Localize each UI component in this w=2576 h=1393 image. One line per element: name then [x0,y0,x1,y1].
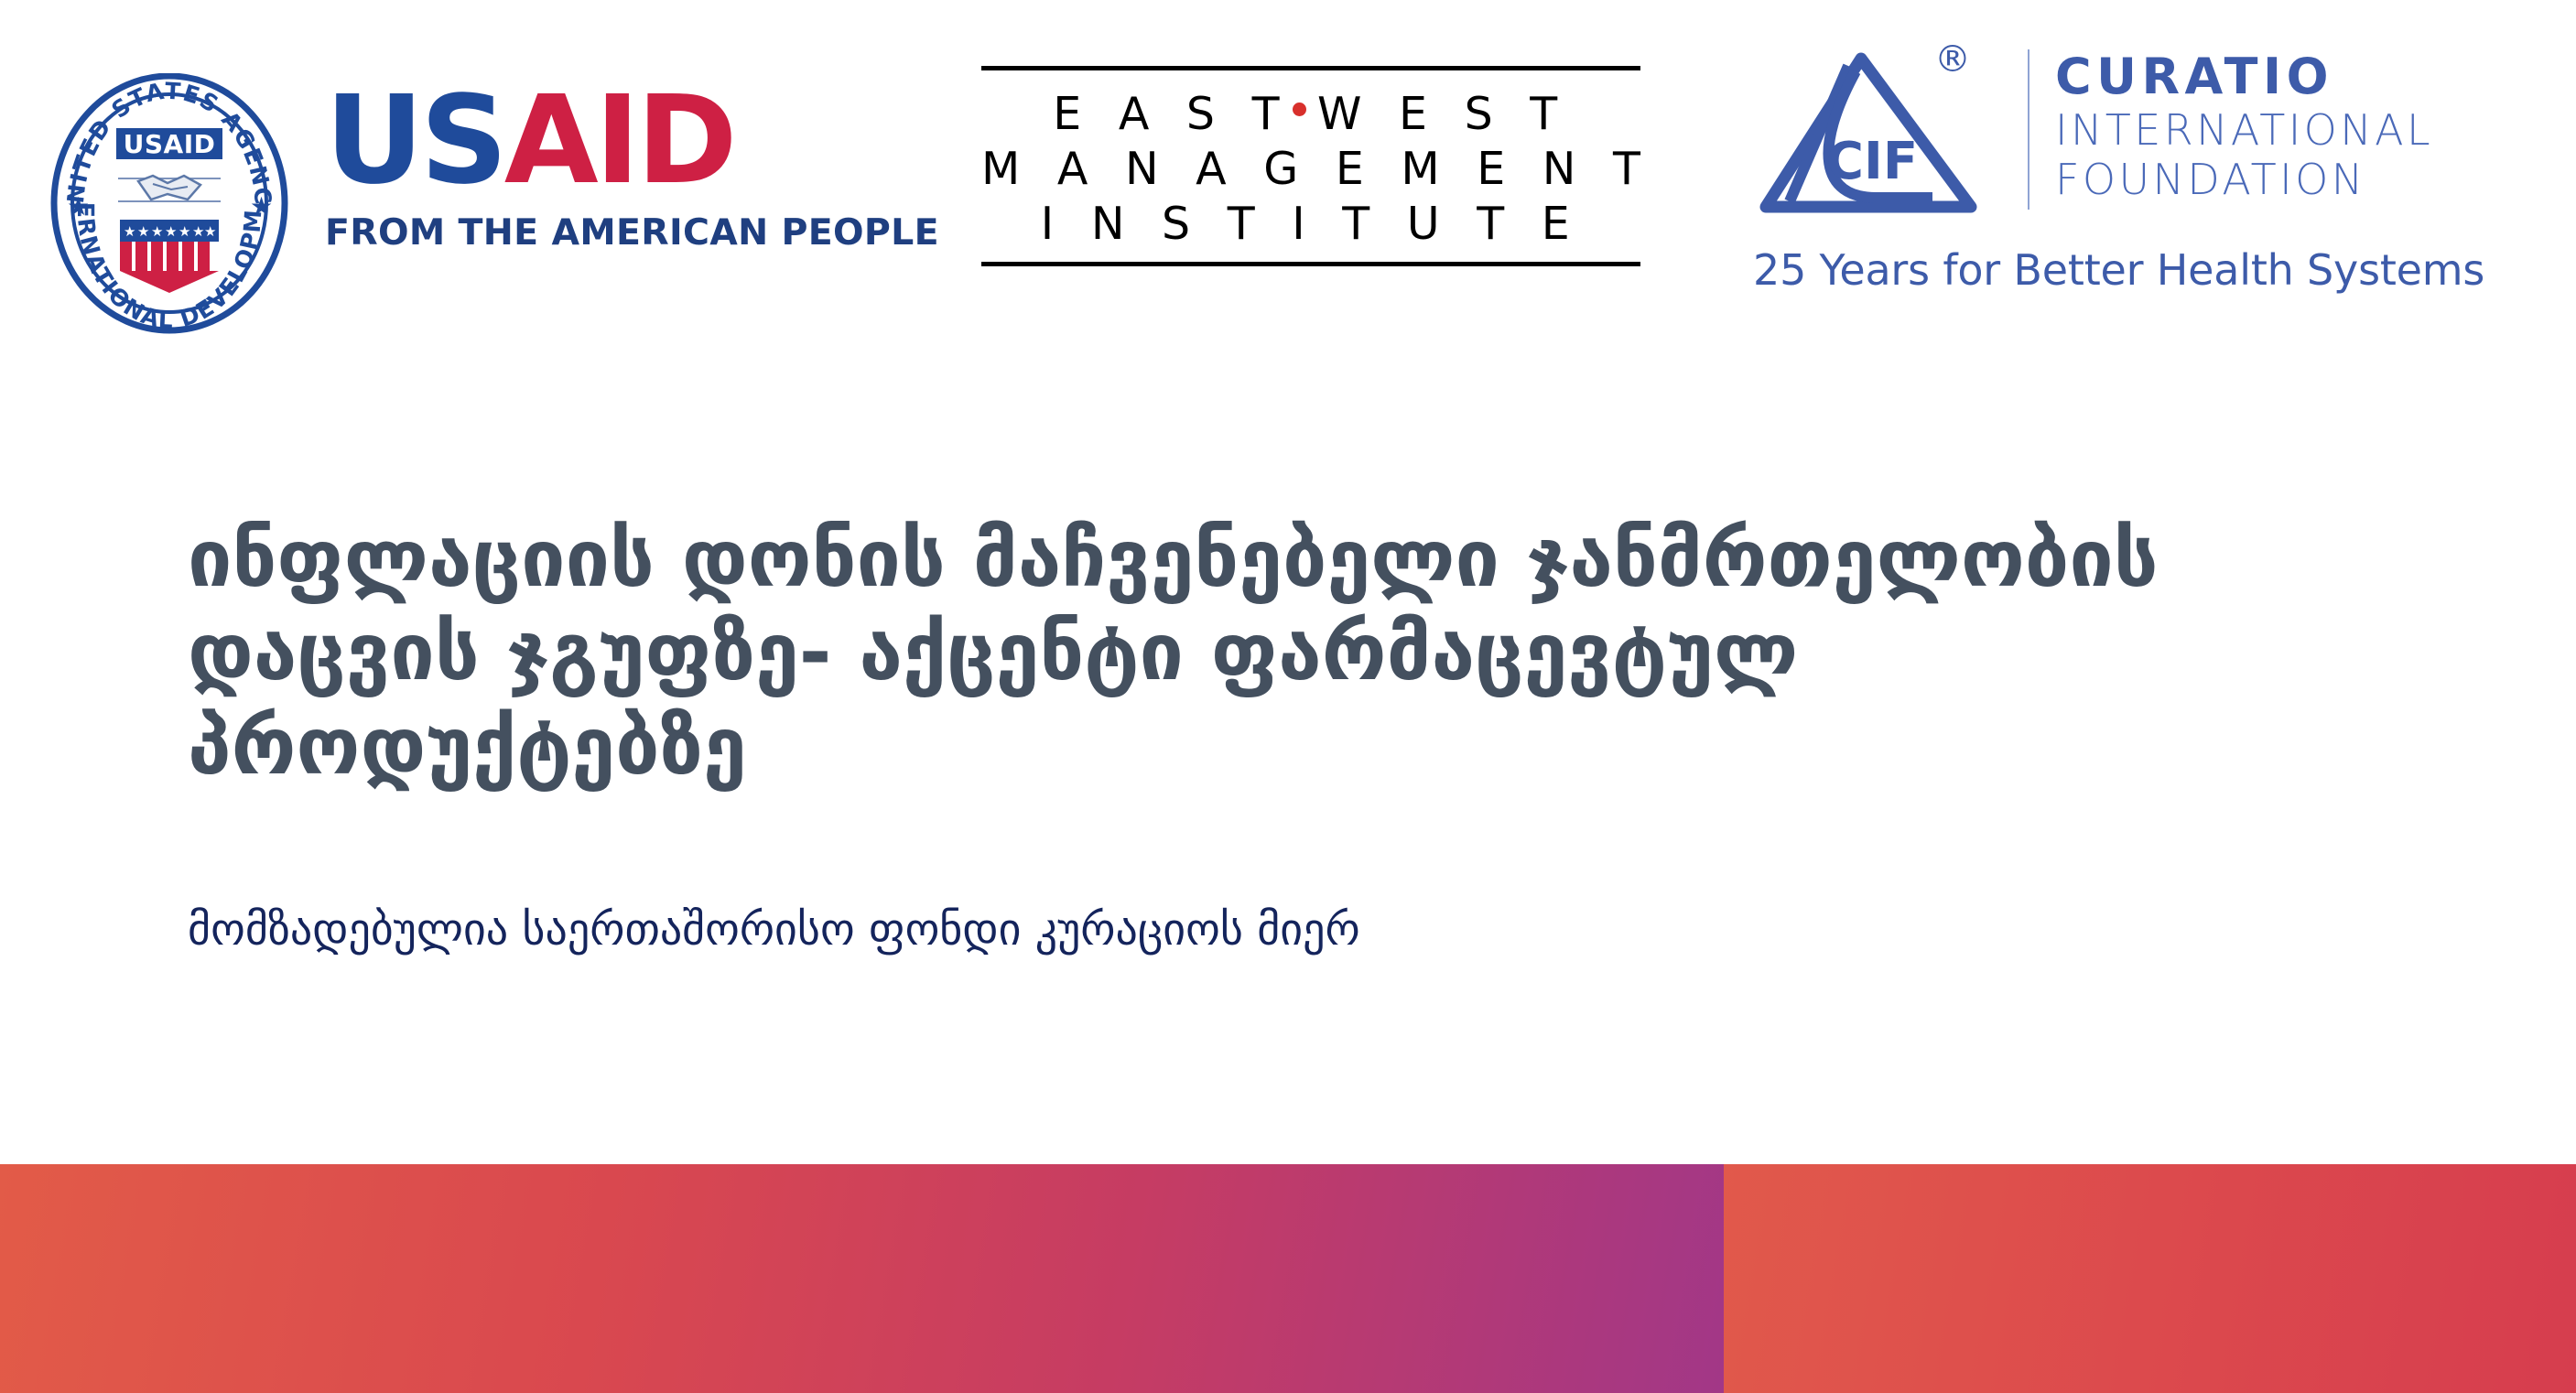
ewmi-east-text: E A S T [1053,88,1291,140]
ewmi-line-2: M A N A G E M E N T [981,142,1640,197]
svg-text:★: ★ [137,223,149,240]
usaid-wordmark: USAID FROM THE AMERICAN PEOPLE [325,81,792,254]
svg-text:★: ★ [250,191,273,221]
svg-text:★: ★ [204,223,216,240]
curatio-divider [2028,49,2029,210]
page-title-line-1: ინფლაციის დონის მაჩვენებელი ჯანმრთელობის [188,513,2159,605]
ewmi-west-text: W E S T [1317,88,1569,140]
title-block: ინფლაციის დონის მაჩვენებელი ჯანმრთელობის… [188,513,2311,958]
registered-trademark-icon: ® [1934,38,1971,81]
svg-text:USAID: USAID [124,129,216,159]
curatio-international-foundation-logo: CIF ® CURATIO INTERNATIONAL FOUNDATION 2… [1753,27,2449,311]
ewmi-red-dot-icon [1293,103,1306,116]
ewmi-line-3: I N S T I T U T E [981,197,1640,252]
ewmi-rule-bottom [981,262,1640,266]
curatio-wordmark: CURATIO INTERNATIONAL FOUNDATION [2055,48,2433,204]
svg-text:★: ★ [124,223,135,240]
bottom-bar-right-segment [1724,1164,2576,1393]
svg-text:★: ★ [67,191,90,221]
usaid-logo: UNITED STATES AGENCY INTERNATIONAL DEVEL… [50,73,792,334]
svg-text:CIF: CIF [1826,132,1918,191]
page-title-line-2: დაცვის ჯგუფზე- აქცენტი ფარმაცევტულ [188,607,1798,698]
east-west-management-institute-logo: E A S TW E S T M A N A G E M E N T I N S… [981,66,1640,286]
svg-text:★: ★ [165,223,177,240]
page-subtitle: მომზადებულია საერთაშორისო ფონდი კურაციოს… [188,902,2311,958]
curatio-name: CURATIO [2055,48,2433,106]
curatio-top-row: CIF ® CURATIO INTERNATIONAL FOUNDATION [1753,27,2449,224]
usaid-wordmark-aid: AID [504,70,734,211]
page-title: ინფლაციის დონის მაჩვენებელი ჯანმრთელობის… [188,513,2311,794]
svg-text:★: ★ [192,223,204,240]
svg-text:★: ★ [151,223,163,240]
curatio-sub-foundation: FOUNDATION [2055,156,2433,205]
usaid-wordmark-us: US [325,70,504,211]
svg-text:★: ★ [179,223,190,240]
curatio-tagline: 25 Years for Better Health Systems [1753,245,2484,295]
usaid-seal-icon: UNITED STATES AGENCY INTERNATIONAL DEVEL… [50,73,288,334]
bottom-accent-bar [0,1164,2576,1393]
page-title-line-3: პროდუქტებზე [188,701,747,793]
bottom-bar-left-segment [0,1164,1724,1393]
ewmi-line-1: E A S TW E S T [981,87,1640,142]
usaid-tagline: FROM THE AMERICAN PEOPLE [325,211,792,254]
ewmi-rule-top [981,66,1640,70]
logo-strip: UNITED STATES AGENCY INTERNATIONAL DEVEL… [0,0,2576,348]
curatio-sub-international: INTERNATIONAL [2055,106,2433,156]
